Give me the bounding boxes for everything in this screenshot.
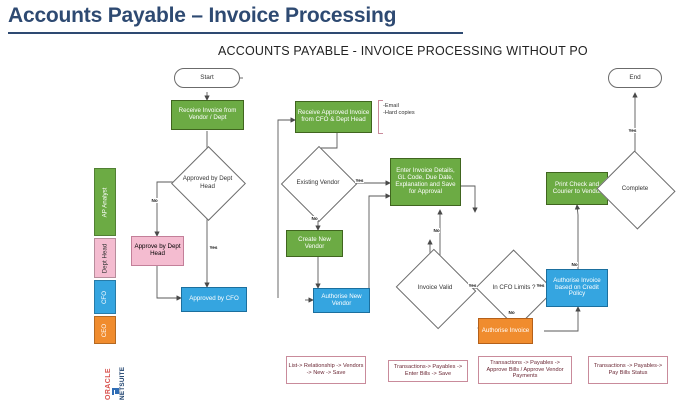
lane-cfo: CFO xyxy=(94,280,116,314)
node-approved-by-cfo-label: Approved by CFO xyxy=(189,296,239,303)
edge-label-existing-vendor-yes: Yes xyxy=(355,178,364,183)
annotation-delivery-methods: -Email -Hard copies xyxy=(383,103,415,118)
edge-label-invoice-valid-yes: Yes xyxy=(468,283,477,288)
node-approve-by-dept-head: Approve by Dept Head xyxy=(131,236,184,266)
lane-ceo: CEO xyxy=(94,316,116,344)
lane-label-ap-analyst: AP Analyst xyxy=(102,187,109,217)
node-end-label: End xyxy=(629,74,640,81)
node-approved-by-cfo: Approved by CFO xyxy=(181,287,247,312)
node-complete: Complete xyxy=(607,163,663,215)
node-authorise-invoice-credit-policy: Authorise Invoice based on Credit Policy xyxy=(546,269,608,307)
node-create-new-vendor-label: Create New Vendor xyxy=(288,237,341,251)
lane-label-dept-head: Dept Head xyxy=(102,243,109,273)
node-complete-label: Complete xyxy=(607,163,663,215)
node-receive-approved-invoice-label: Receive Approved Invoice from CFO & Dept… xyxy=(297,110,370,124)
lane-label-cfo: CFO xyxy=(102,290,109,303)
edge-label-complete-no: No xyxy=(571,262,578,267)
edge-label-dept-head-no: No xyxy=(151,198,158,203)
node-in-cfo-limits-label: In CFO Limits ? xyxy=(486,262,542,314)
note-vendor-path: List-> Relationship -> Vendors -> New ->… xyxy=(286,356,366,384)
node-approved-by-dept-head-label: Approved by Dept Head xyxy=(182,157,233,208)
note-enter-bills-path: Transactions-> Payables -> Enter Bills -… xyxy=(388,360,468,382)
logo-oracle-text: ORACLE xyxy=(105,368,112,400)
node-create-new-vendor: Create New Vendor xyxy=(286,230,343,257)
node-receive-approved-invoice: Receive Approved Invoice from CFO & Dept… xyxy=(295,101,372,133)
node-start-label: Start xyxy=(200,74,214,81)
node-in-cfo-limits: In CFO Limits ? xyxy=(486,262,542,314)
node-invoice-valid-label: Invoice Valid xyxy=(406,262,464,314)
node-receive-invoice-label: Receive Invoice from Vendor / Dept xyxy=(173,108,242,122)
logo-netsuite-text: NETSUITE xyxy=(119,367,126,400)
edge-label-cfo-limits-no: No xyxy=(508,310,515,315)
edge-label-complete-yes: Yes xyxy=(628,128,637,133)
lane-ap-analyst: AP Analyst xyxy=(94,168,116,236)
edge-label-dept-head-yes: Yes xyxy=(209,245,218,250)
edge-label-existing-vendor-no: No xyxy=(311,216,318,221)
flowchart-canvas: AP Analyst Dept Head CFO CEO ORACLE NETS… xyxy=(0,0,680,412)
node-enter-invoice-details-label: Enter Invoice Details, GL Code, Due Date… xyxy=(392,168,459,196)
edge-label-invoice-valid-no: No xyxy=(433,228,440,233)
edge-label-cfo-limits-yes: Yes xyxy=(536,283,545,288)
lane-label-ceo: CEO xyxy=(101,323,108,336)
node-authorise-new-vendor: Authorise New Vendor xyxy=(313,288,370,313)
netsuite-mark-icon xyxy=(112,388,119,395)
annotation-bracket xyxy=(378,100,383,134)
node-approve-by-dept-head-label: Approve by Dept Head xyxy=(133,244,182,258)
node-existing-vendor: Existing Vendor xyxy=(292,157,344,209)
node-authorise-new-vendor-label: Authorise New Vendor xyxy=(315,294,368,308)
oracle-netsuite-logo: ORACLE NETSUITE xyxy=(92,352,138,402)
node-authorise-invoice: Authorise Invoice xyxy=(478,318,533,344)
node-approved-by-dept-head: Approved by Dept Head xyxy=(182,157,233,208)
lane-dept-head: Dept Head xyxy=(94,238,116,278)
node-start: Start xyxy=(174,68,240,88)
node-authorise-invoice-label: Authorise Invoice xyxy=(482,328,529,335)
node-authorise-invoice-credit-policy-label: Authorise Invoice based on Credit Policy xyxy=(548,278,606,299)
node-receive-invoice: Receive Invoice from Vendor / Dept xyxy=(171,100,244,130)
node-invoice-valid: Invoice Valid xyxy=(406,262,464,314)
node-existing-vendor-label: Existing Vendor xyxy=(292,157,344,209)
node-enter-invoice-details: Enter Invoice Details, GL Code, Due Date… xyxy=(390,158,461,206)
note-pay-bills-status-path: Transactions -> Payables-> Pay Bills Sta… xyxy=(588,356,668,384)
node-end: End xyxy=(608,68,662,88)
note-approve-bills-path: Transactions -> Payables -> Approve Bill… xyxy=(478,356,572,384)
